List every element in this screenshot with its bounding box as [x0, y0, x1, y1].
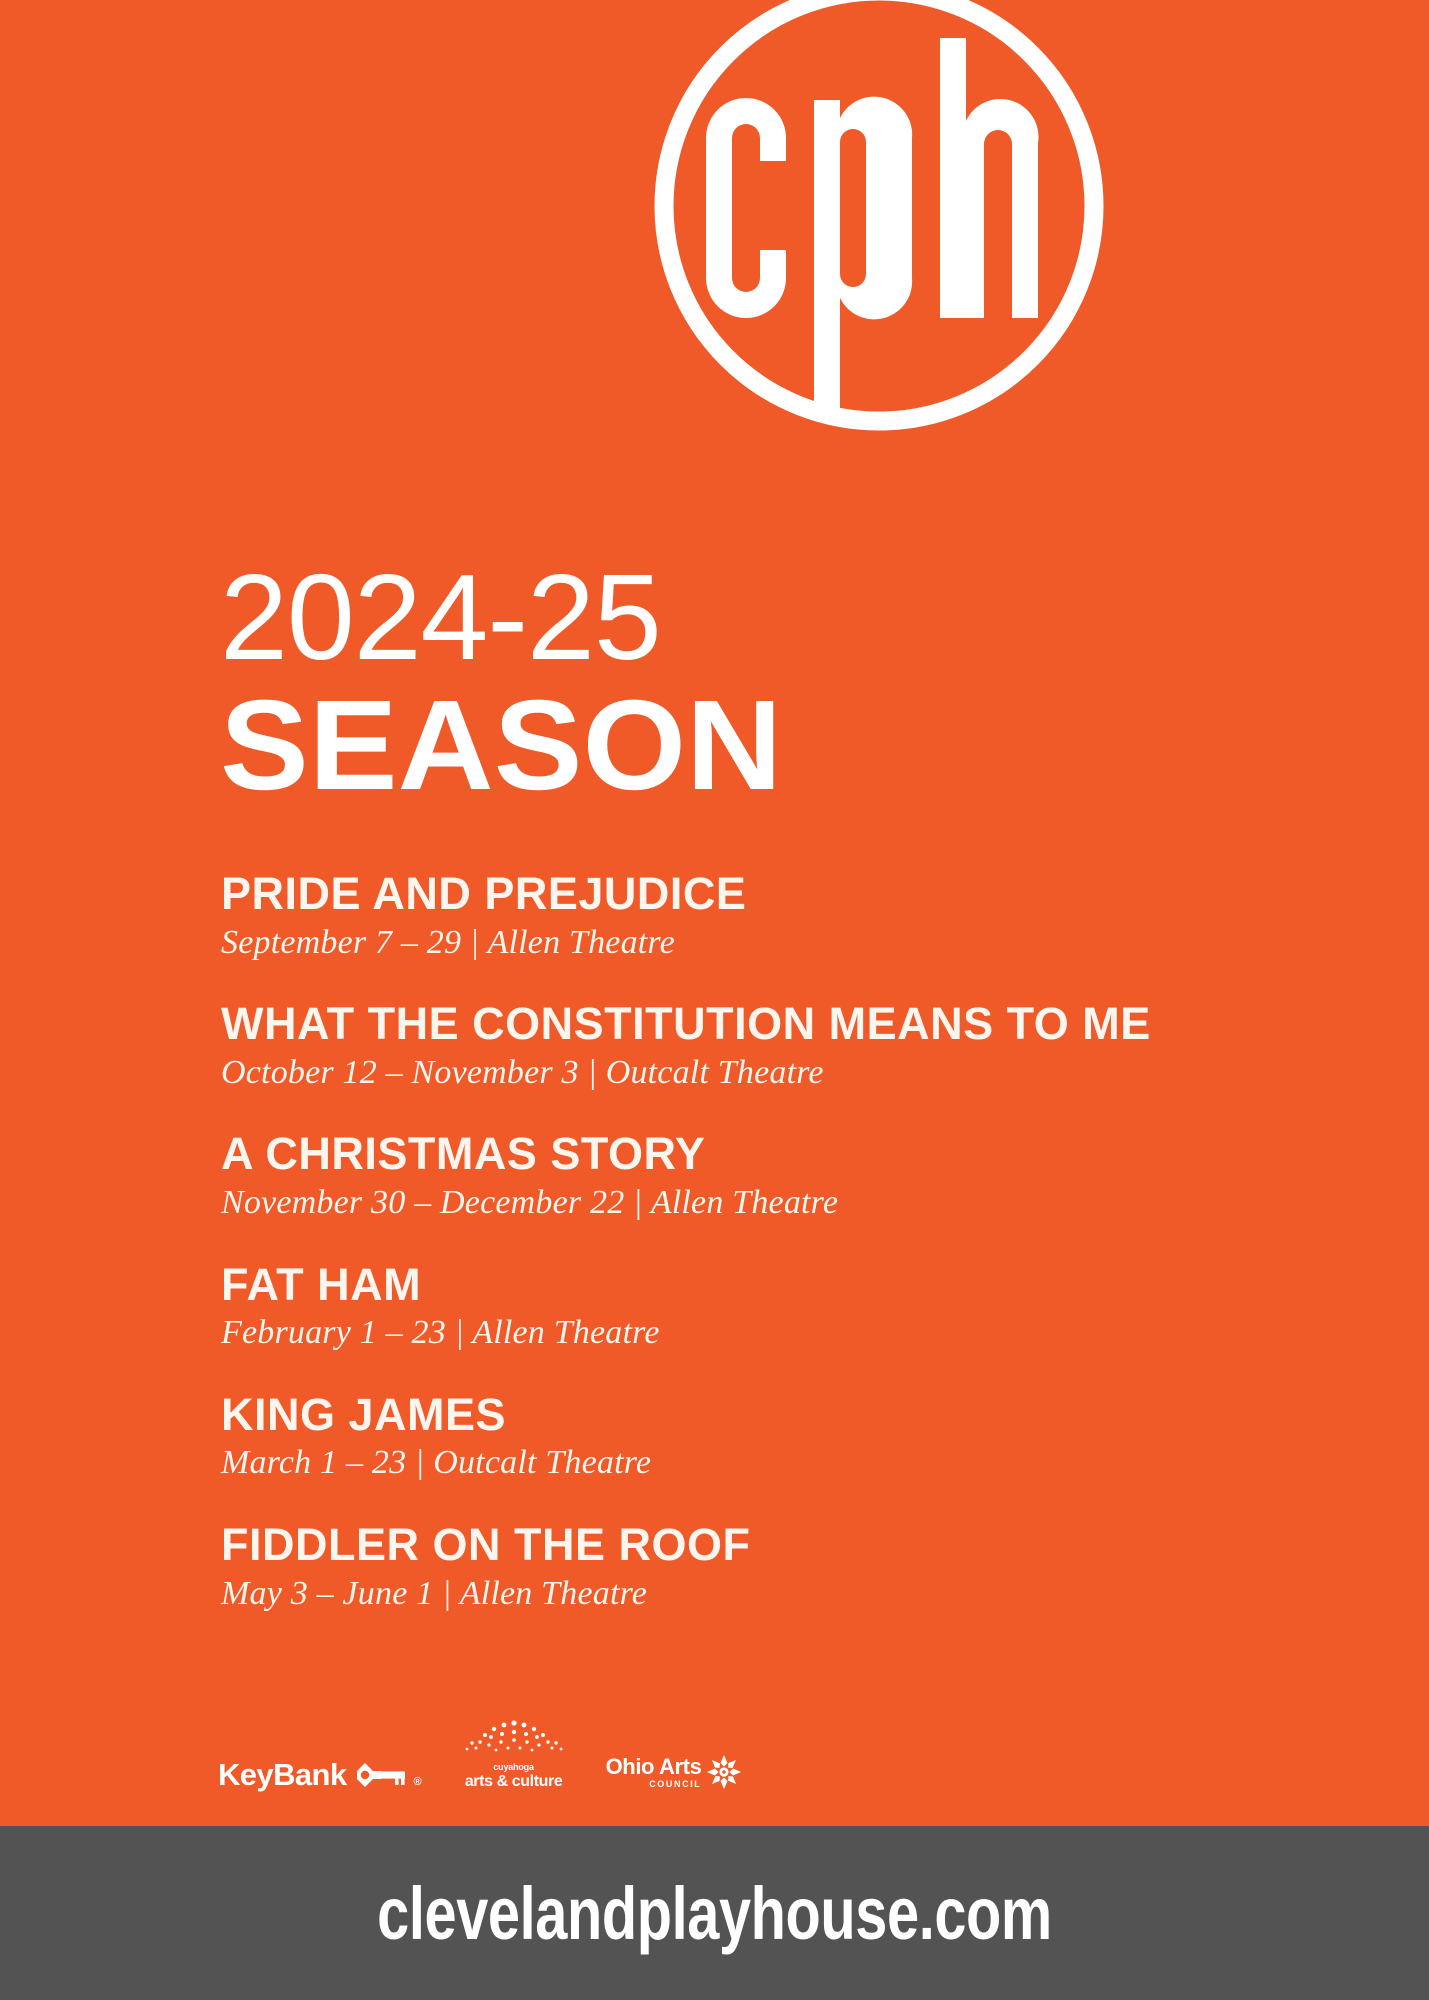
starburst-icon	[460, 1720, 568, 1762]
keybank-logo: KeyBank ®	[218, 1759, 422, 1790]
show-title: WHAT THE CONSTITUTION MEANS TO ME	[221, 1000, 1251, 1048]
season-year: 2024-25	[220, 560, 1220, 676]
keybank-wordmark: KeyBank	[218, 1759, 346, 1790]
show-list: PRIDE AND PREJUDICE September 7 – 29 | A…	[221, 870, 1251, 1615]
cph-logo	[648, 0, 1248, 448]
sponsor-logos: KeyBank ®	[218, 1718, 742, 1790]
show-title: FAT HAM	[221, 1261, 1251, 1309]
show-meta: October 12 – November 3 | Outcalt Theatr…	[221, 1052, 1251, 1095]
show-meta: February 1 – 23 | Allen Theatre	[221, 1312, 1251, 1355]
season-word: SEASON	[220, 682, 1260, 810]
list-item[interactable]: FAT HAM February 1 – 23 | Allen Theatre	[221, 1261, 1251, 1355]
cac-line1: cuyahoga	[493, 1763, 533, 1772]
list-item[interactable]: A CHRISTMAS STORY November 30 – December…	[221, 1130, 1251, 1224]
footer-bar: clevelandplayhouse.com	[0, 1826, 1429, 2000]
logo-letter-h	[940, 38, 1038, 318]
registered-icon: ®	[413, 1776, 421, 1788]
show-title: A CHRISTMAS STORY	[221, 1130, 1251, 1178]
pinwheel-icon	[706, 1754, 742, 1790]
list-item[interactable]: PRIDE AND PREJUDICE September 7 – 29 | A…	[221, 870, 1251, 964]
cac-line2: arts & culture	[465, 1774, 563, 1790]
list-item[interactable]: FIDDLER ON THE ROOF May 3 – June 1 | All…	[221, 1521, 1251, 1615]
list-item[interactable]: WHAT THE CONSTITUTION MEANS TO ME Octobe…	[221, 1000, 1251, 1094]
headline-block: 2024-25 SEASON	[220, 560, 1220, 810]
oac-line2: COUNCIL	[649, 1780, 701, 1789]
show-title: PRIDE AND PREJUDICE	[221, 870, 1251, 918]
show-title: KING JAMES	[221, 1391, 1251, 1439]
logo-letter-c	[706, 98, 786, 318]
website-url[interactable]: clevelandplayhouse.com	[377, 1871, 1052, 1956]
show-meta: September 7 – 29 | Allen Theatre	[221, 922, 1251, 965]
cuyahoga-arts-culture-logo: cuyahoga arts & culture	[460, 1720, 568, 1790]
ohio-arts-council-logo: Ohio Arts COUNCIL	[606, 1754, 743, 1790]
logo-letter-p	[814, 97, 912, 408]
show-title: FIDDLER ON THE ROOF	[221, 1521, 1251, 1569]
key-icon	[351, 1760, 407, 1790]
list-item[interactable]: KING JAMES March 1 – 23 | Outcalt Theatr…	[221, 1391, 1251, 1485]
show-meta: March 1 – 23 | Outcalt Theatre	[221, 1442, 1251, 1485]
show-meta: November 30 – December 22 | Allen Theatr…	[221, 1182, 1251, 1225]
season-poster: 2024-25 SEASON PRIDE AND PREJUDICE Septe…	[0, 0, 1429, 2000]
show-meta: May 3 – June 1 | Allen Theatre	[221, 1573, 1251, 1616]
oac-line1: Ohio Arts	[606, 1756, 702, 1778]
